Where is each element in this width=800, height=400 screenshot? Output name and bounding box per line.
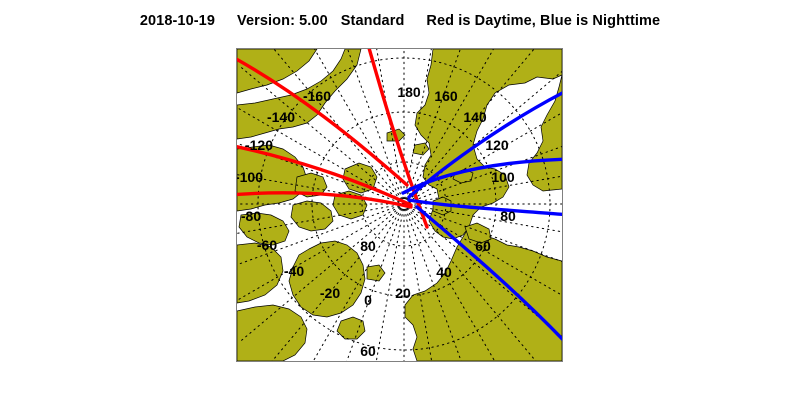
lon-label-m120: -120 [245,137,273,153]
title-date: 2018-10-19 [140,13,215,29]
title-version: Version: 5.00 [237,13,328,29]
polar-map-svg: 180 160 140 120 100 80 60 40 20 0 -20 -4… [237,49,562,361]
figure-canvas: 2018-10-19Version: 5.00StandardRed is Da… [0,0,800,400]
lon-label-0: 0 [364,292,372,308]
lon-label-120: 120 [485,137,509,153]
lon-label-160: 160 [434,88,458,104]
lon-label-m100: -100 [237,169,263,185]
lon-label-m60: -60 [257,237,277,253]
figure-title: 2018-10-19Version: 5.00StandardRed is Da… [0,12,800,30]
lon-label-40: 40 [436,264,452,280]
lon-label-100: 100 [491,169,515,185]
lon-label-m140: -140 [267,109,295,125]
lon-label-m20: -20 [320,285,340,301]
lon-label-m80: -80 [241,208,261,224]
title-standard: Standard [341,13,405,29]
lon-label-20: 20 [395,285,411,301]
lon-label-m40: -40 [284,263,304,279]
lon-label-140: 140 [463,109,487,125]
lon-label-80: 80 [500,208,516,224]
title-legend: Red is Daytime, Blue is Nighttime [426,13,660,29]
lon-label-60: 60 [475,238,491,254]
lat-label-60: 60 [360,343,376,359]
lat-label-80: 80 [360,238,376,254]
lon-label-m160: -160 [303,88,331,104]
lon-label-180: 180 [397,84,421,100]
polar-map-panel[interactable]: 180 160 140 120 100 80 60 40 20 0 -20 -4… [236,48,563,362]
